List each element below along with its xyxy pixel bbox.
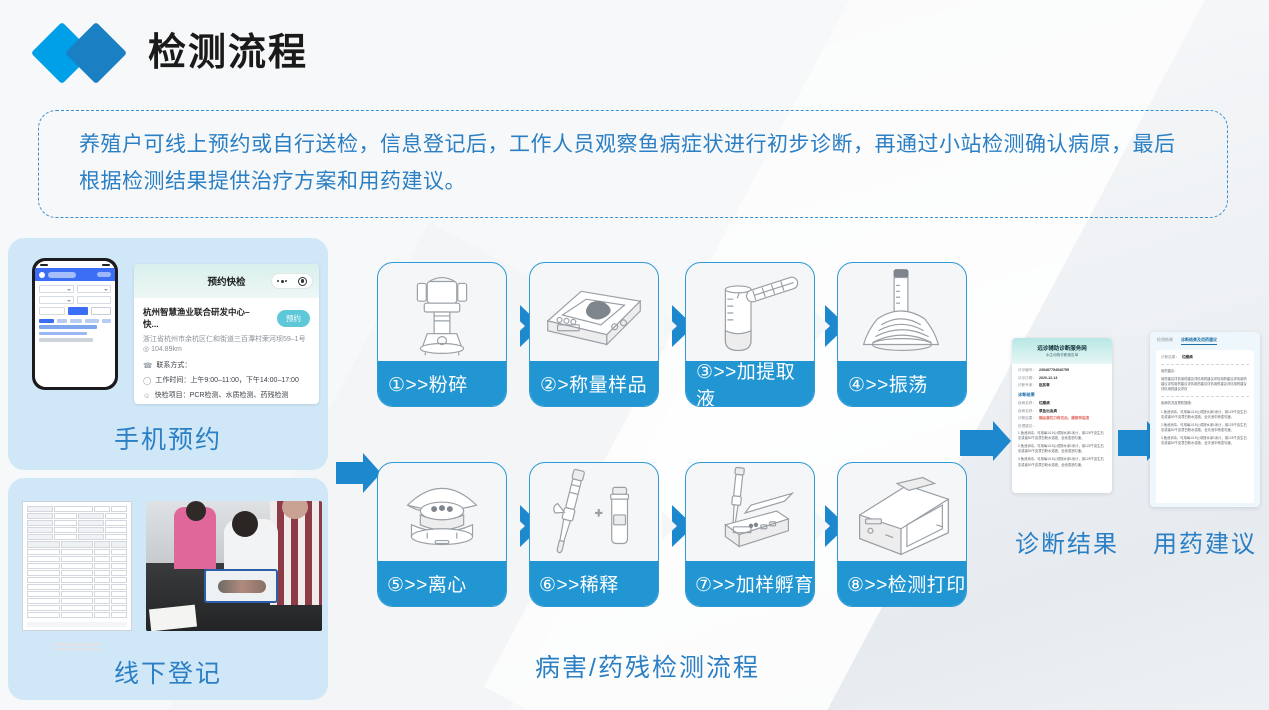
page-header: 检测流程 bbox=[38, 22, 308, 84]
clock-icon: ◯ bbox=[143, 376, 151, 386]
step-6-label: ⑥>>稀释 bbox=[530, 561, 658, 606]
process-caption: 病害/药残检测流程 bbox=[535, 648, 760, 684]
step-4-label: ④>>振荡 bbox=[838, 361, 966, 406]
diagnosis-paragraph: 3.鱼池消毒，可用每1/15公顷按水深1米计，用125千克生石灰或者50千克漂白… bbox=[1018, 457, 1106, 467]
contact-row: ☎ 联系方式： bbox=[143, 361, 310, 371]
diagnosis-section-title: 诊断结果 bbox=[1018, 392, 1106, 398]
appointment-header-title: 预约快检 bbox=[207, 274, 245, 288]
advice-panel: 检测结果 诊断结果及用药建议 诊断结果：烂鳃病 用药建议： 用药建议详情用药建议… bbox=[1150, 332, 1260, 507]
test-tube-icon bbox=[686, 263, 814, 363]
organization-address: 浙江省杭州市余杭区仁和街道三百潭村荣河坝59–1号 bbox=[143, 336, 306, 343]
diagnosis-field-row: 诊断专家：赵民章 bbox=[1018, 383, 1106, 388]
grinder-icon bbox=[378, 263, 506, 363]
contact-text: 联系方式： bbox=[156, 361, 191, 370]
appointment-card: 预约快检 杭州智慧渔业联合研发中心–快... 预约 浙江省杭州市余杭区仁和街道三… bbox=[134, 264, 319, 404]
diagnosis-result-row: 疾病名称：草鱼出血病 bbox=[1018, 409, 1106, 414]
phone-app-body bbox=[35, 281, 115, 387]
result-caption-advice: 用药建议 bbox=[1150, 524, 1260, 559]
step-card-8[interactable]: ⑧>>检测打印 bbox=[837, 462, 967, 607]
cases-title: 疾病情况及预防措施： bbox=[1161, 401, 1249, 406]
step-2-label: ②>称量样品 bbox=[530, 361, 658, 406]
diagnosis-report-document: 远诊辅助诊断服务网 水生动物诊断报告单 诊诊编号：235487754540755… bbox=[1012, 338, 1112, 493]
step-card-5[interactable]: ⑤>>离心 bbox=[377, 462, 507, 607]
tab-test-results[interactable]: 检测结果 bbox=[1157, 337, 1173, 345]
step-5-label: ⑤>>离心 bbox=[378, 561, 506, 606]
advice-text: 用药建议详情用药建议详情用药建议详情用药建议详情用药建议详情用药建议详情用药建议… bbox=[1161, 377, 1249, 392]
vortex-mixer-icon bbox=[838, 263, 966, 363]
person-icon: ☺ bbox=[143, 391, 151, 401]
registration-form-document bbox=[22, 501, 132, 631]
tab-diagnosis-advice[interactable]: 诊断结果及用药建议 bbox=[1181, 337, 1217, 345]
distance-label: ◎ 104.89km bbox=[143, 346, 182, 353]
step-3-label: ③>>加提取液 bbox=[686, 361, 814, 406]
close-target-icon[interactable] bbox=[298, 277, 307, 286]
diagnosis-field-row: 诊诊编号：235487754540755 bbox=[1018, 368, 1106, 373]
pipette-bottle-icon: + bbox=[530, 463, 658, 563]
more-icon[interactable] bbox=[277, 280, 287, 283]
diagnosis-result-row: 诊断结果：鳃丝腐烂口骨充血、鳃部有粘液 bbox=[1018, 416, 1106, 421]
analyzer-printer-icon bbox=[838, 463, 966, 563]
book-button[interactable]: 预约 bbox=[277, 310, 310, 327]
incubator-icon bbox=[686, 463, 814, 563]
diagnosis-doc-title: 远诊辅助诊断服务网 bbox=[1037, 344, 1087, 352]
diamond-logo-icon bbox=[38, 22, 130, 84]
step-card-6[interactable]: + ⑥>>稀释 bbox=[529, 462, 659, 607]
intro-text: 养殖户可线上预约或自行送检，信息登记后，工作人员观察鱼病症状进行初步诊断，再通过… bbox=[79, 127, 1187, 201]
scale-icon bbox=[530, 263, 658, 363]
advice-case: 2.鱼池消毒，可用每1/15公顷按水深1米计，用125千克生石灰或者50千克漂白… bbox=[1161, 423, 1249, 433]
panel-caption-mobile-booking: 手机预约 bbox=[8, 420, 328, 456]
hours-text: 工作时间：上午9:00–11:00，下午14:00–17:00 bbox=[155, 376, 298, 385]
step-7-label: ⑦>>加样孵育 bbox=[686, 561, 814, 606]
centrifuge-icon bbox=[378, 463, 506, 563]
step-card-2[interactable]: ②>称量样品 bbox=[529, 262, 659, 407]
result-caption-diagnosis: 诊断结果 bbox=[1012, 524, 1122, 559]
step-card-4[interactable]: ④>>振荡 bbox=[837, 262, 967, 407]
advice-case: 1.鱼池消毒，可用每1/15公顷按水深1米计，用125千克生石灰或者50千克漂白… bbox=[1161, 410, 1249, 420]
step-card-3[interactable]: ③>>加提取液 bbox=[685, 262, 815, 407]
page-title: 检测流程 bbox=[148, 34, 308, 72]
step-8-label: ⑧>>检测打印 bbox=[838, 561, 966, 606]
phone-status-bar bbox=[35, 261, 115, 268]
step-card-1[interactable]: ①>>粉碎 bbox=[377, 262, 507, 407]
svg-text:+: + bbox=[595, 505, 602, 520]
hours-row: ◯ 工作时间：上午9:00–11:00，下午14:00–17:00 bbox=[143, 376, 310, 386]
phone-app-navbar bbox=[35, 268, 115, 281]
panel-mobile-booking: 预约快检 杭州智慧渔业联合研发中心–快... 预约 浙江省杭州市余杭区仁和街道三… bbox=[8, 238, 328, 470]
advice-case: 3.鱼池消毒，可用每1/15公顷按水深1米计，用125千克生石灰或者50千克漂白… bbox=[1161, 436, 1249, 446]
diagnosis-result-row: 疾病名称：烂鳃病 bbox=[1018, 401, 1106, 406]
lab-registration-photo bbox=[146, 501, 322, 631]
advice-title: 用药建议： bbox=[1161, 369, 1249, 374]
appointment-card-header: 预约快检 bbox=[134, 264, 319, 298]
diagnosis-paragraph: 2.鱼池消毒，可用每1/15公顷按水深1米计，用125千克生石灰或者50千克漂白… bbox=[1018, 444, 1106, 454]
step-1-label: ①>>粉碎 bbox=[378, 361, 506, 406]
flow-arrow-to-steps bbox=[336, 462, 376, 484]
flow-arrow-to-diagnosis bbox=[960, 430, 1010, 456]
diagnosis-result-row: 处理建议： bbox=[1018, 424, 1106, 429]
step-card-7[interactable]: ⑦>>加样孵育 bbox=[685, 462, 815, 607]
diagnosis-paragraph: 1.鱼池消毒，可用每1/15公顷按水深1米计，用125千克生石灰或者50千克漂白… bbox=[1018, 431, 1106, 441]
services-row: ☺ 快检项目：PCR检测、水质检测、药残检测 bbox=[143, 391, 310, 401]
panel-caption-offline-registration: 线下登记 bbox=[8, 654, 328, 690]
diagnosis-field-row: 诊诊日期：2020-12-13 bbox=[1018, 376, 1106, 381]
phone-mockup bbox=[32, 258, 118, 390]
intro-callout: 养殖户可线上预约或自行送检，信息登记后，工作人员观察鱼病症状进行初步诊断，再通过… bbox=[38, 110, 1228, 218]
panel-offline-registration: 线下登记 bbox=[8, 478, 328, 700]
services-text: 快检项目：PCR检测、水质检测、药残检测 bbox=[155, 391, 289, 400]
advice-diagnosis-row: 诊断结果：烂鳃病 bbox=[1161, 355, 1249, 360]
organization-name: 杭州智慧渔业联合研发中心–快... bbox=[143, 306, 261, 330]
phone-icon: ☎ bbox=[143, 361, 152, 371]
diagnosis-doc-subtitle: 水生动物诊断报告单 bbox=[1046, 353, 1078, 358]
miniapp-capsule-controls[interactable] bbox=[271, 273, 313, 289]
